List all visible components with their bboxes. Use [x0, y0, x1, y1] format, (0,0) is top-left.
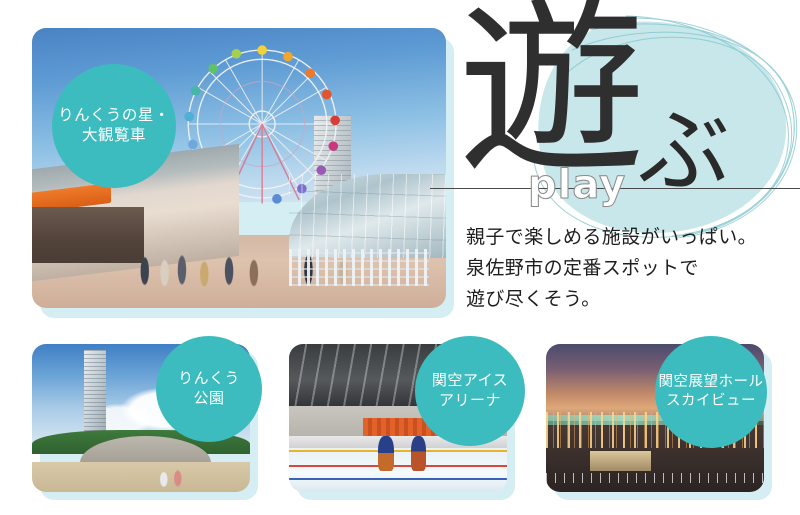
- hero-badge-line2: 大観覧車: [82, 126, 146, 146]
- badge-line2: アリーナ: [439, 391, 501, 411]
- title-romaji: play: [528, 162, 626, 208]
- hero-badge[interactable]: りんくうの星・ 大観覧車: [52, 64, 176, 188]
- rink-line-blue: [289, 478, 507, 480]
- badge-line1: 関空展望ホール: [659, 373, 764, 392]
- skater-figure: [411, 436, 426, 472]
- badge-line2: 公園: [193, 389, 224, 409]
- badge-ice-arena[interactable]: 関空アイス アリーナ: [415, 336, 525, 446]
- beach-sand: [32, 462, 250, 492]
- ice-surface: [289, 448, 507, 492]
- title-kana: ぶ: [638, 106, 730, 198]
- badge-line1: りんくう: [178, 369, 240, 389]
- badge-rinku-park[interactable]: りんくう 公園: [156, 336, 262, 442]
- title-block: 遊 ぶ play 親子で楽しめる施設がいっぱい。 泉佐野市の定番スポットで 遊び…: [440, 10, 800, 330]
- patio-chairs: [289, 249, 430, 285]
- perimeter-fence: [546, 473, 764, 483]
- rink-line-yellow: [289, 450, 507, 452]
- badge-skyview[interactable]: 関空展望ホール スカイビュー: [655, 336, 767, 448]
- lead-line-3: 遊び尽くそう。: [466, 284, 796, 315]
- title-kanji: 遊: [458, 0, 646, 184]
- hero-photo[interactable]: りんくうの星・ 大観覧車: [32, 28, 446, 308]
- badge-line2: スカイビュー: [666, 392, 756, 411]
- lead-paragraph: 親子で楽しめる施設がいっぱい。 泉佐野市の定番スポットで 遊び尽くそう。: [466, 222, 796, 314]
- hero-badge-line1: りんくうの星・: [58, 106, 170, 126]
- rink-line-red: [289, 465, 507, 467]
- terminal-building: [590, 451, 651, 472]
- skater-figure: [378, 436, 393, 472]
- beach-visitors: [154, 465, 189, 489]
- lead-line-1: 親子で楽しめる施設がいっぱい。: [466, 222, 796, 253]
- badge-line1: 関空アイス: [432, 371, 508, 391]
- lead-line-2: 泉佐野市の定番スポットで: [466, 253, 796, 284]
- poster-canvas: りんくうの星・ 大観覧車 遊 ぶ play 親子で楽しめる施設がいっぱい。: [0, 0, 800, 515]
